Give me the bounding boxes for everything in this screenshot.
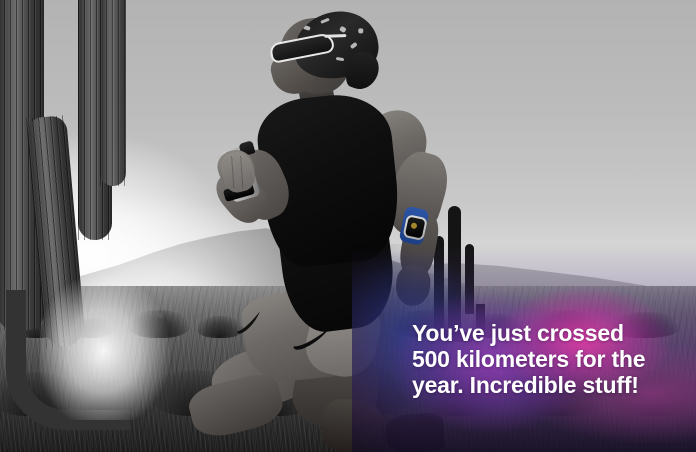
bandana-pattern <box>336 57 344 61</box>
bandana-pattern <box>320 18 329 24</box>
headline-line-1: You’ve just crossed <box>412 320 688 346</box>
saguaro-cactus-left <box>0 0 144 390</box>
running-achievement-banner: You’ve just crossed 500 kilometers for t… <box>0 0 696 452</box>
bandana-pattern <box>303 25 311 31</box>
bandana-pattern <box>339 26 347 33</box>
cactus-ribs <box>100 0 126 186</box>
headline-message: You’ve just crossed 500 kilometers for t… <box>412 320 688 398</box>
hand-right <box>394 264 432 307</box>
headline-line-2: 500 kilometers for the <box>412 346 688 372</box>
cactus-arm <box>100 0 126 186</box>
headline-line-3: year. Incredible stuff! <box>412 372 688 398</box>
cactus-arm-curve <box>6 290 130 430</box>
running-shoe <box>385 412 446 452</box>
bandana-pattern <box>350 42 358 49</box>
leg-left-shin <box>185 370 287 443</box>
bandana-pattern <box>358 28 363 33</box>
leg-right-calf <box>319 397 384 452</box>
